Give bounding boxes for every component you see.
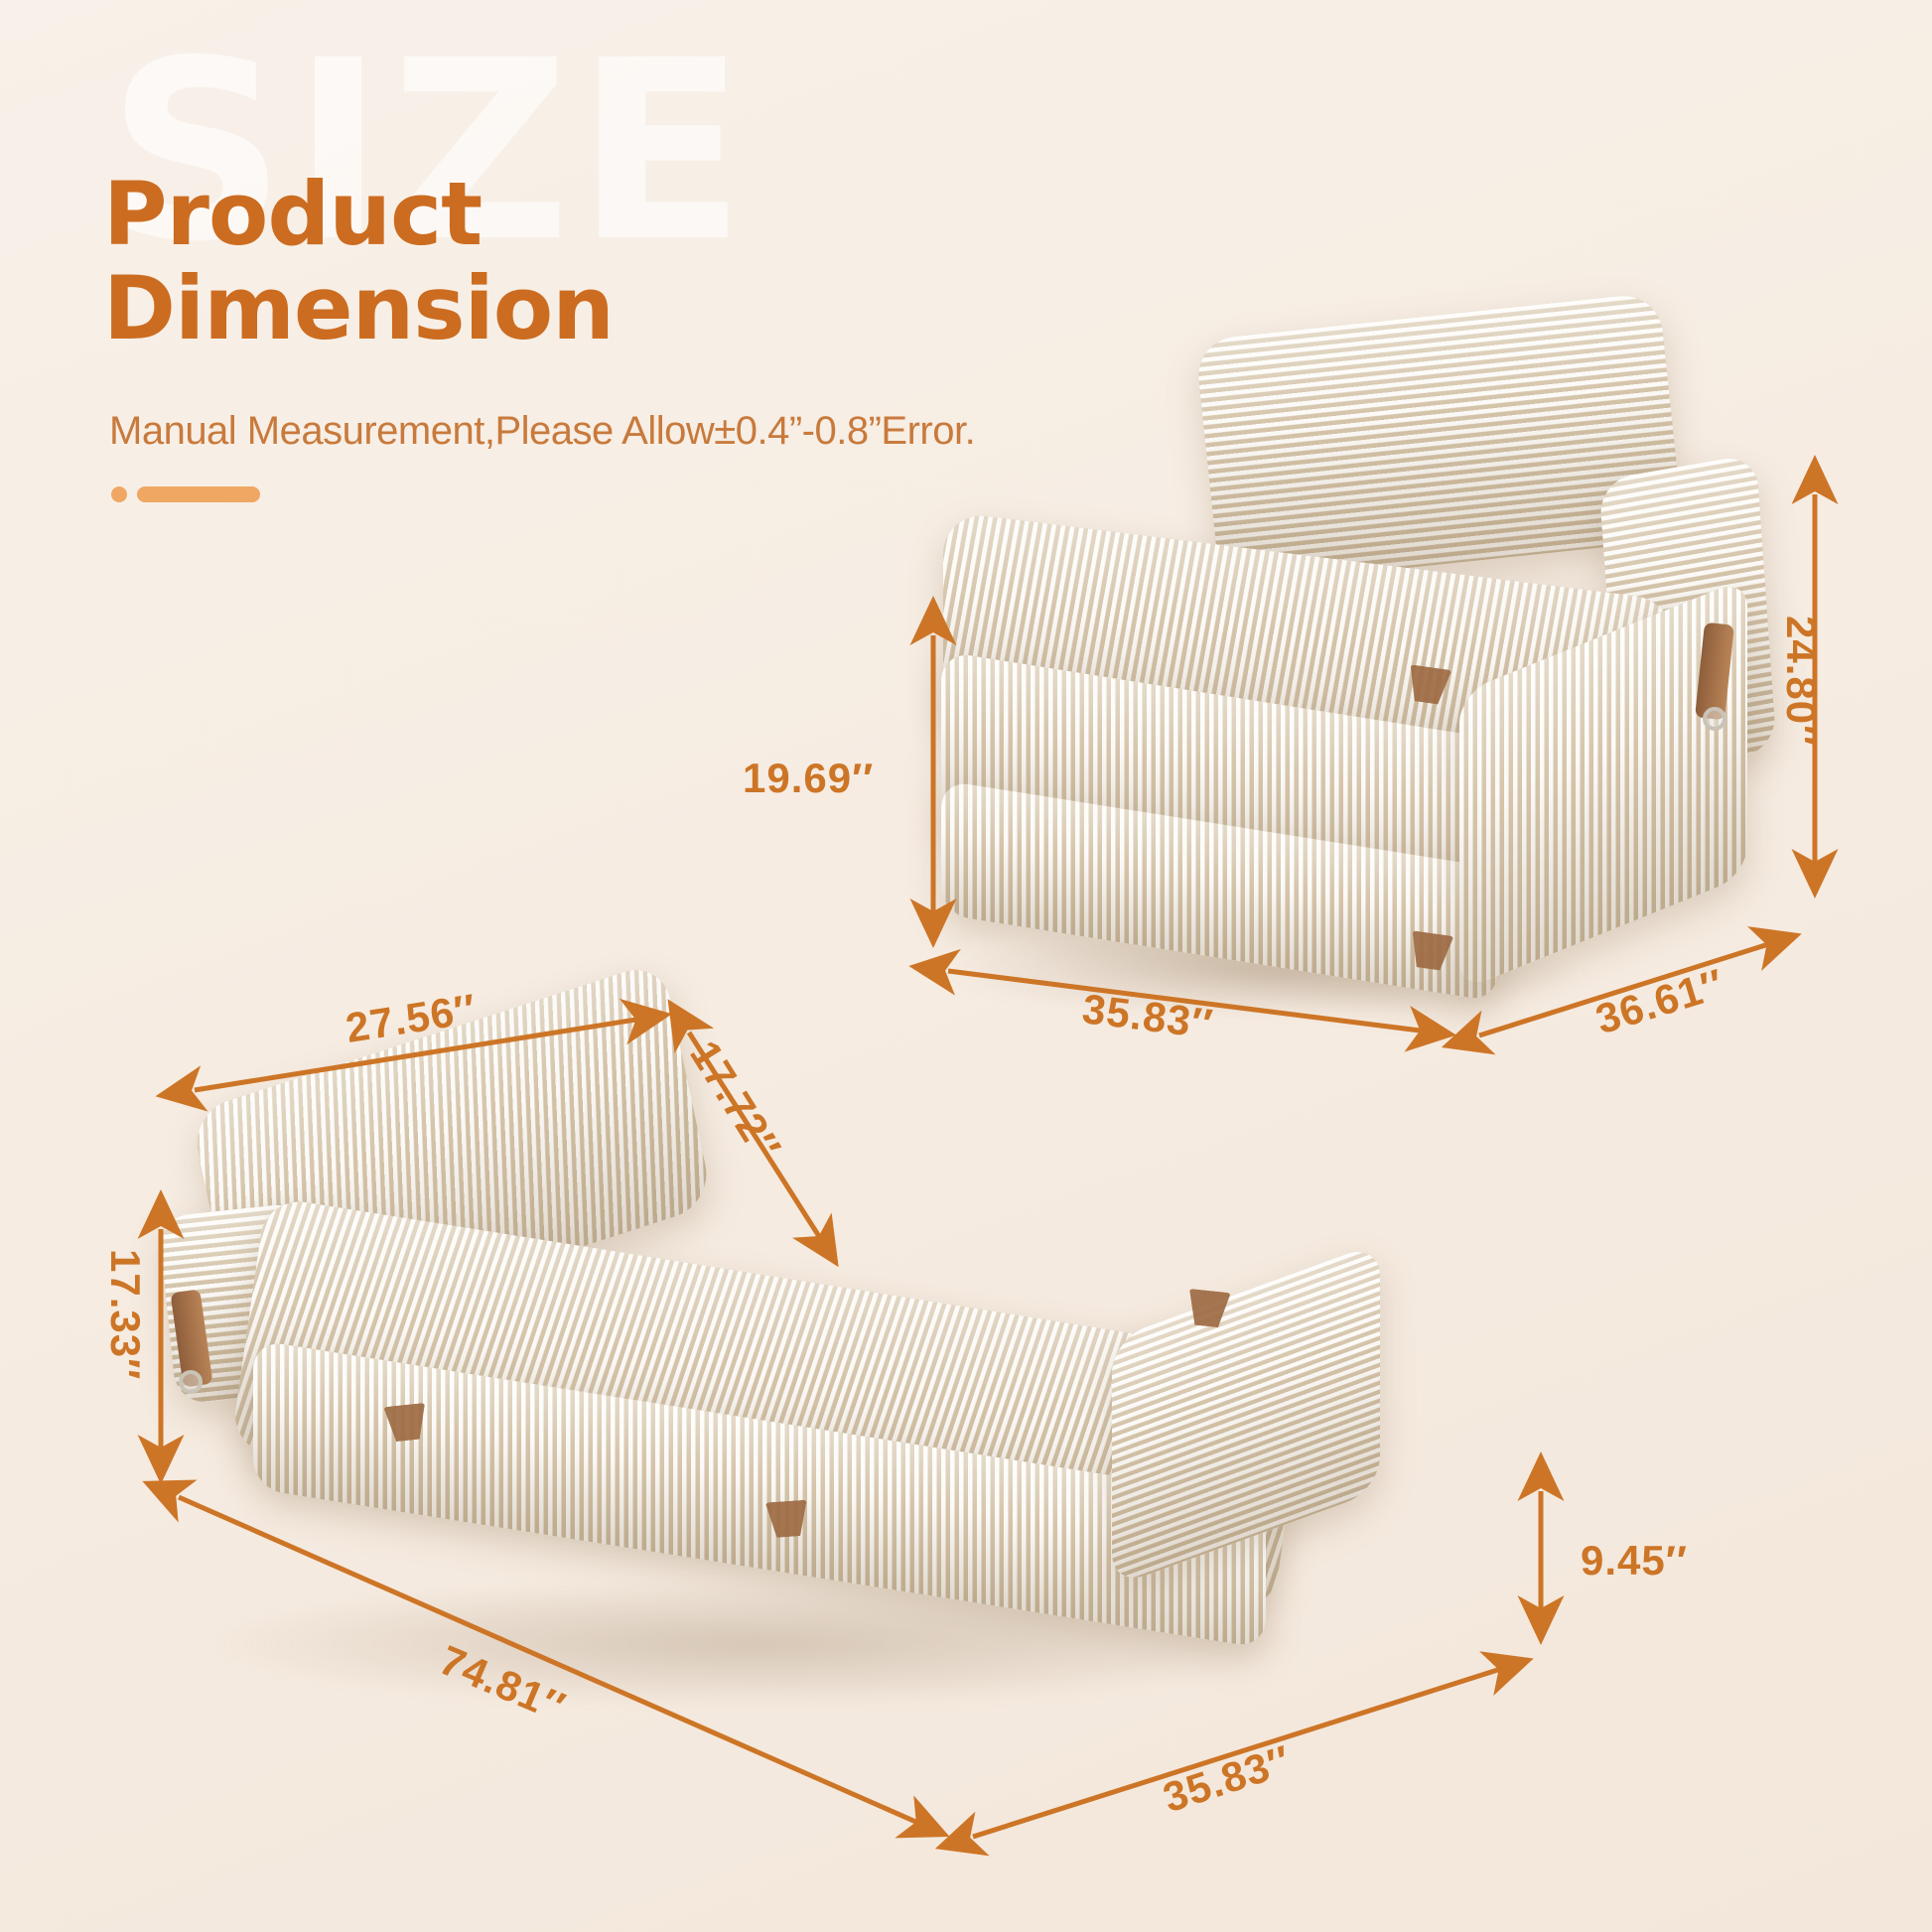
metal-buckle: [1703, 707, 1726, 731]
dim-label-depth-side: 36.61′′: [1590, 960, 1730, 1044]
dim-label-mattress-thickness: 9.45′′: [1581, 1537, 1688, 1585]
page-title-line2: Dimension: [103, 261, 614, 355]
dim-label-backrest-height: 17.33′′: [101, 1249, 149, 1380]
measurement-note: Manual Measurement,Please Allow±0.4”-0.8…: [109, 409, 975, 454]
decorative-bar: [137, 486, 260, 502]
decorative-rule: [111, 486, 260, 502]
mattress-right-end-face: [1112, 1242, 1380, 1587]
dim-label-height-folded: 19.69′′: [743, 755, 874, 802]
dim-label-back-height: 24.80′′: [1777, 616, 1825, 747]
dim-label-mattress-width: 35.83′′: [1158, 1736, 1298, 1823]
metal-buckle: [179, 1370, 203, 1394]
page-title-line1: Product: [103, 163, 482, 265]
decorative-dot: [111, 486, 127, 502]
infographic-canvas: SIZE Product Dimension Manual Measuremen…: [0, 0, 1932, 1932]
corduroy-texture: [1112, 1242, 1380, 1587]
page-title: Product Dimension: [103, 167, 614, 355]
